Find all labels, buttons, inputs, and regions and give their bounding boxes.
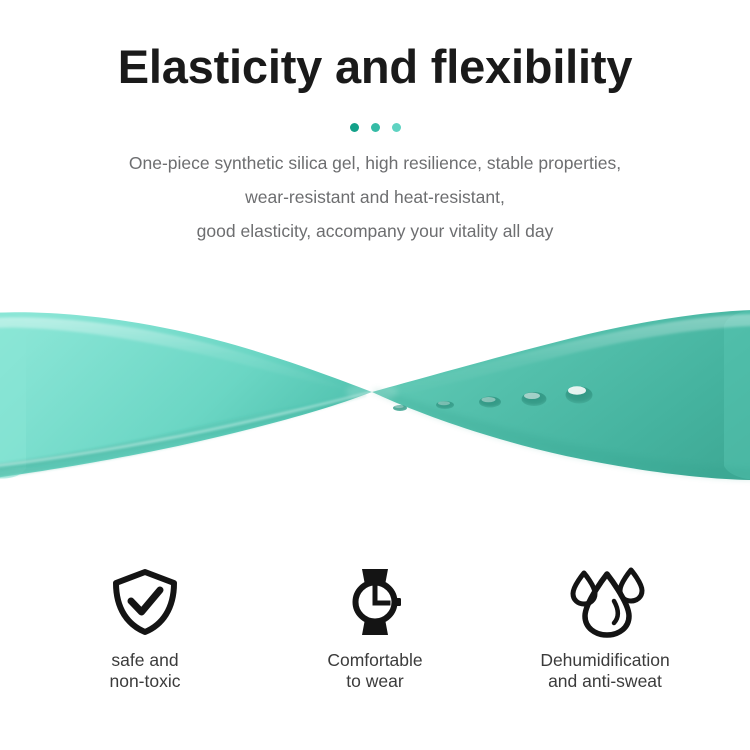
feature-label-line-1: safe and bbox=[111, 650, 178, 670]
band-left-cap bbox=[0, 313, 26, 479]
feature-label-line-1: Dehumidification bbox=[540, 650, 669, 670]
header-block: Elasticity and flexibility One-piece syn… bbox=[0, 0, 750, 280]
band-left-lobe bbox=[0, 312, 372, 478]
feature-item-comfortable-to-wear: Comfortable to wear bbox=[260, 565, 490, 692]
page-title: Elasticity and flexibility bbox=[0, 42, 750, 91]
band-twist-highlight bbox=[346, 383, 398, 401]
dot-separator bbox=[0, 120, 750, 134]
feature-label-comfortable-to-wear: Comfortable to wear bbox=[327, 650, 422, 692]
feature-row: safe and non-toxic Comfortable to wear bbox=[0, 565, 750, 715]
wristwatch-icon bbox=[338, 565, 412, 639]
subtitle-block: One-piece synthetic silica gel, high res… bbox=[0, 146, 750, 248]
feature-item-dehumidification: Dehumidification and anti-sweat bbox=[490, 565, 720, 692]
feature-label-line-2: to wear bbox=[327, 671, 422, 692]
product-photo bbox=[0, 280, 750, 530]
feature-item-safe-non-toxic: safe and non-toxic bbox=[30, 565, 260, 692]
feature-label-line-2: and anti-sweat bbox=[540, 671, 669, 692]
separator-dot-3 bbox=[392, 123, 401, 132]
band-right-cap bbox=[724, 310, 750, 480]
subtitle-line-3: good elasticity, accompany your vitality… bbox=[0, 214, 750, 248]
feature-label-line-2: non-toxic bbox=[109, 671, 180, 692]
subtitle-line-1: One-piece synthetic silica gel, high res… bbox=[0, 146, 750, 180]
water-drops-icon bbox=[562, 565, 648, 639]
silicone-band-illustration bbox=[0, 280, 750, 530]
shield-check-icon bbox=[108, 565, 182, 639]
band-hole-1 bbox=[393, 405, 407, 411]
band-hole-3 bbox=[479, 397, 501, 408]
separator-dot-2 bbox=[371, 123, 380, 132]
feature-label-dehumidification: Dehumidification and anti-sweat bbox=[540, 650, 669, 692]
band-hole-4 bbox=[522, 392, 547, 406]
separator-dot-1 bbox=[350, 123, 359, 132]
subtitle-line-2: wear-resistant and heat-resistant, bbox=[0, 180, 750, 214]
feature-label-line-1: Comfortable bbox=[327, 650, 422, 670]
feature-label-safe-non-toxic: safe and non-toxic bbox=[109, 650, 180, 692]
band-hole-2 bbox=[436, 401, 454, 409]
